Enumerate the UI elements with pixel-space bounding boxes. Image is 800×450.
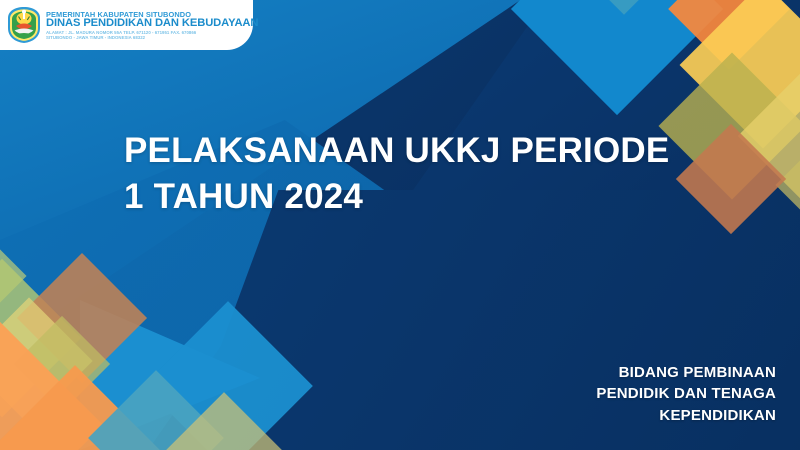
organization-text-block: PEMERINTAH KABUPATEN SITUBONDO DINAS PEN… [46, 10, 258, 41]
department-name: DINAS PENDIDIKAN DAN KEBUDAYAAN [46, 18, 258, 29]
situbondo-regency-emblem-icon [6, 6, 42, 44]
slide-title: PELAKSANAAN UKKJ PERIODE 1 TAHUN 2024 [124, 128, 669, 220]
issuing-division-label: BIDANG PEMBINAAN PENDIDIK DAN TENAGA KEP… [596, 362, 776, 426]
presentation-slide: PEMERINTAH KABUPATEN SITUBONDO DINAS PEN… [0, 0, 800, 450]
organization-header-banner: PEMERINTAH KABUPATEN SITUBONDO DINAS PEN… [0, 0, 253, 50]
address-line-2: SITUBONDO - JAWA TIMUR - INDONESIA 68322 [46, 36, 258, 40]
